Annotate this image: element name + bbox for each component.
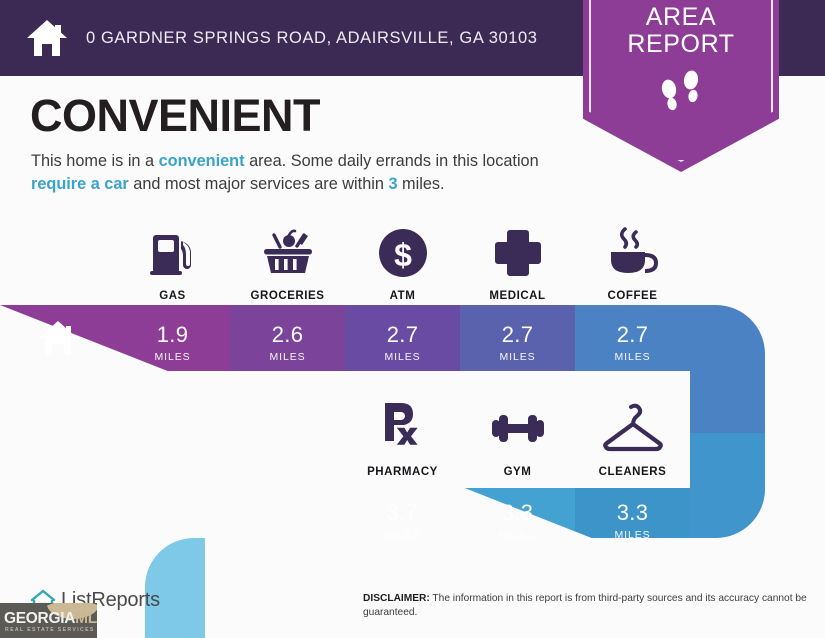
category-groceries: GROCERIES [230,225,345,302]
badge-title: AREA REPORT [627,4,734,57]
subtitle-part-4: miles. [398,175,445,193]
distance-cell-pharmacy: 3.7 MILES [345,488,460,554]
category-label: GROCERIES [251,290,325,302]
home-icon [26,18,68,58]
distance-unit: MILES [384,529,420,541]
home-icon-svg [26,18,68,58]
distance-value: 2.7 [387,324,418,346]
subtitle-highlight-3: 3 [388,175,397,193]
category-coffee: COFFEE [575,225,690,302]
medical-cross-icon [490,225,546,281]
distance-value: 3.3 [617,502,648,524]
coffee-cup-icon [603,225,663,281]
distance-cell-atm: 2.7 MILES [345,310,460,376]
distance-unit: MILES [269,351,305,363]
page-title: CONVENIENT [30,93,320,138]
distance-value: 2.7 [617,324,648,346]
category-label: MEDICAL [489,290,545,302]
disclaimer-label: DISCLAIMER: [363,593,430,604]
category-cleaners: CLEANERS [575,401,690,478]
page-subtitle: This home is in a convenient area. Some … [31,150,591,196]
home-marker [0,305,115,371]
distance-values-row-2: 3.7 MILES 3.3 MILES 3.3 MILES [345,488,690,554]
category-icons-row-2: PHARMACY GYM CLEANERS [345,392,690,478]
subtitle-part-1: This home is in a [31,152,159,170]
category-label: CLEANERS [599,466,667,478]
badge-line-1: AREA [627,4,734,31]
svg-text:$: $ [394,237,412,273]
mls-wordmark: GEORGIAMLS [4,610,97,628]
property-address: 0 GARDNER SPRINGS ROAD, ADAIRSVILLE, GA … [86,29,538,48]
category-pharmacy: PHARMACY [345,399,460,478]
mls-word-mls: MLS [75,610,97,627]
gas-pump-icon [145,225,201,281]
subtitle-highlight-1: convenient [159,152,245,170]
distance-cell-groceries: 2.6 MILES [230,310,345,376]
distance-unit: MILES [499,529,535,541]
category-label: GYM [504,466,532,478]
area-report-badge: AREA REPORT [583,0,779,172]
category-label: COFFEE [608,290,658,302]
distance-unit: MILES [614,529,650,541]
category-label: ATM [390,290,416,302]
distance-value: 1.9 [157,324,188,346]
distance-cell-cleaners: 3.3 MILES [575,488,690,554]
category-icons-row-1: GAS GROCERIES $ ATM [115,216,690,302]
distance-cell-medical: 2.7 MILES [460,310,575,376]
disclaimer: DISCLAIMER: The information in this repo… [363,592,811,621]
distance-unit: MILES [154,351,190,363]
clothes-hanger-icon [601,401,665,457]
mls-word-georgia: GEORGIA [4,610,75,627]
distance-unit: MILES [384,351,420,363]
distance-value: 2.7 [502,324,533,346]
disclaimer-text: The information in this report is from t… [363,593,807,618]
ribbon-segment-left-turn [145,488,230,538]
distance-unit: MILES [614,351,650,363]
ribbon-right-upper [690,371,825,433]
subtitle-highlight-2: require a car [31,175,129,193]
home-icon [36,318,80,358]
distance-value: 2.6 [272,324,303,346]
area-report-page: 0 GARDNER SPRINGS ROAD, ADAIRSVILLE, GA … [0,0,825,638]
category-medical: MEDICAL [460,225,575,302]
category-label: GAS [159,290,186,302]
distance-value: 3.3 [502,502,533,524]
shopping-basket-icon [258,225,318,281]
mls-tagline: REAL ESTATE SERVICES [5,627,95,633]
subtitle-part-2: area. Some daily errands in this locatio… [245,152,539,170]
distance-cell-gas: 1.9 MILES [115,310,230,376]
distance-cell-gym: 3.3 MILES [460,488,575,554]
badge-line-2: REPORT [627,31,734,58]
category-gas: GAS [115,225,230,302]
footprints-icon [655,69,707,113]
distance-value: 3.7 [387,502,418,524]
dumbbell-icon [487,401,549,457]
distance-cell-coffee: 2.7 MILES [575,310,690,376]
dollar-circle-icon: $ [375,225,431,281]
distance-unit: MILES [499,351,535,363]
ribbon-segment-blank [230,488,345,538]
category-atm: $ ATM [345,225,460,302]
category-gym: GYM [460,401,575,478]
georgia-mls-logo: GEORGIAMLS REAL ESTATE SERVICES [0,603,97,638]
distance-values-row-1: 1.9 MILES 2.6 MILES 2.7 MILES 2.7 MILES … [115,310,690,376]
prescription-rx-icon [375,399,431,457]
ribbon-segment-turn-top [690,305,825,371]
subtitle-part-3: and most major services are within [129,175,389,193]
category-label: PHARMACY [367,466,438,478]
ribbon-right-lower [690,433,825,538]
header-content: 0 GARDNER SPRINGS ROAD, ADAIRSVILLE, GA … [26,0,538,76]
